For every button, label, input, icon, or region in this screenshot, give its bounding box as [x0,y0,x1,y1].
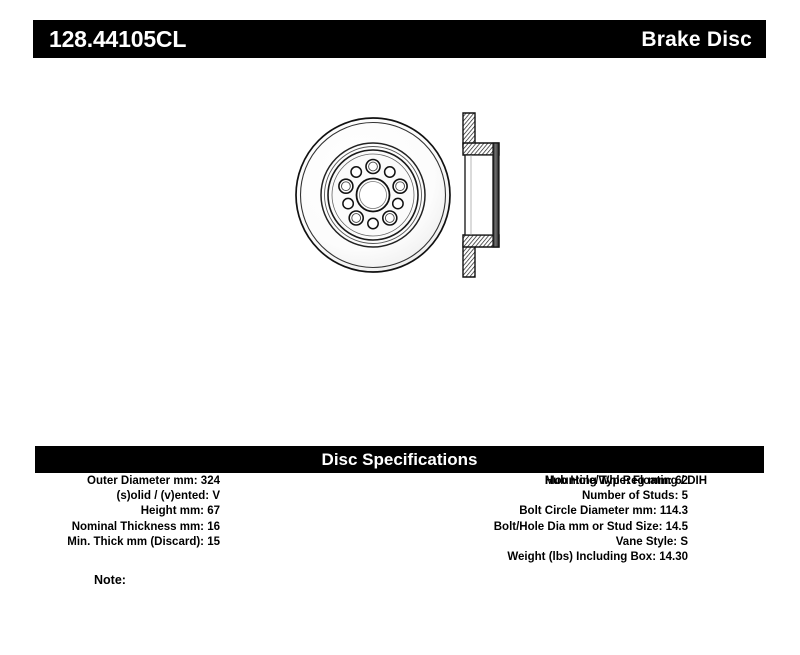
spec-item: Bolt/Hole Dia mm or Stud Size: 14.5 [245,520,688,535]
spec-item: Outer Diameter mm: 324 [35,474,220,489]
spec-item: (s)olid / (v)ented: V [35,489,220,504]
rotor-side-section-view [463,113,499,277]
spec-item: Vane Style: S [245,535,688,550]
product-type-title: Brake Disc [641,29,752,50]
note-row: Note: [94,571,126,589]
spec-column-right: Mounting Type: Floating / DIH [545,474,764,489]
spec-item: Weight (lbs) Including Box: 14.30 [245,550,688,565]
rotor-front-view [296,118,450,272]
spec-item: Bolt Circle Diameter mm: 114.3 [245,504,688,519]
spec-item: Min. Thick mm (Discard): 15 [35,535,220,550]
part-number-label: 128.44105CL [49,28,186,51]
spec-item: Height mm: 67 [35,504,220,519]
spec-column-left: Outer Diameter mm: 324 (s)olid / (v)ente… [35,474,220,550]
spec-item: Nominal Thickness mm: 16 [35,520,220,535]
spec-section-title-bar: Disc Specifications [35,446,764,473]
header-bar: 128.44105CL Brake Disc [33,20,766,58]
note-label: Note: [94,573,126,587]
product-illustration [285,95,525,295]
spec-item: Mounting Type: Floating / DIH [545,474,764,489]
brake-disc-drawing [285,95,525,295]
spec-item: Number of Studs: 5 [245,489,688,504]
spec-section-title: Disc Specifications [322,451,478,468]
